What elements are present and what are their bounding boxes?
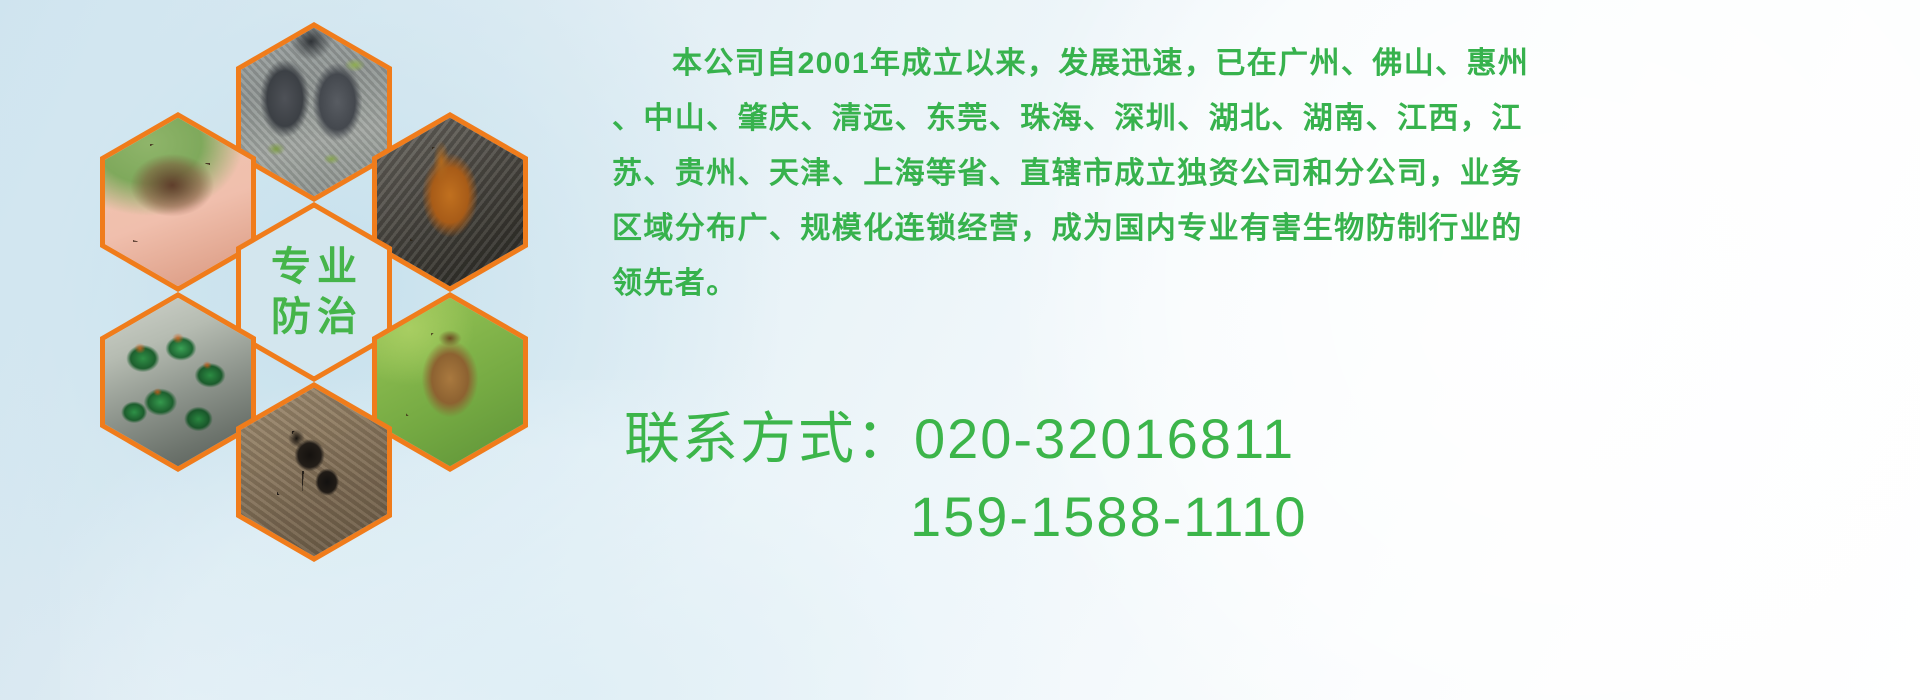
hexagon-photo-cluster: 专业 防治: [90, 8, 590, 568]
mosquito-photo: [105, 118, 251, 286]
hex-cell-mosquito[interactable]: [100, 112, 256, 292]
hex-label-line-1: 专业: [265, 246, 363, 288]
pest-control-banner: 专业 防治 本公司自2001年成立以来，发展迅速，已在广州、佛山、惠州 、中山、…: [0, 0, 1920, 700]
ant-photo: [241, 388, 387, 556]
hex-label-text: 专业 防治: [241, 208, 387, 376]
contact-line-secondary[interactable]: 159-1588-1110: [624, 478, 1884, 556]
rats-photo: [241, 28, 387, 196]
contact-line-primary[interactable]: 联系方式：020-32016811: [624, 400, 1884, 478]
hex-cell-ant[interactable]: [236, 382, 392, 562]
hex-cell-rats[interactable]: [236, 22, 392, 202]
company-description: 本公司自2001年成立以来，发展迅速，已在广州、佛山、惠州 、中山、肇庆、清远、…: [612, 36, 1862, 311]
hex-label-line-2: 防治: [265, 296, 363, 338]
hex-cell-cockroach[interactable]: [372, 112, 528, 292]
about-line-5: 领先者。: [612, 256, 1862, 311]
about-line-2: 、中山、肇庆、清远、东莞、珠海、深圳、湖北、湖南、江西，江: [612, 91, 1862, 146]
about-line-4: 区域分布广、规模化连锁经营，成为国内专业有害生物防制行业的: [612, 201, 1862, 256]
flies-photo: [105, 298, 251, 466]
hex-cell-stink-bug[interactable]: [372, 292, 528, 472]
cockroach-photo: [377, 118, 523, 286]
contact-block: 联系方式：020-32016811 159-1588-1110: [624, 400, 1884, 556]
about-line-3: 苏、贵州、天津、上海等省、直辖市成立独资公司和分公司，业务: [612, 146, 1862, 201]
about-line-1: 本公司自2001年成立以来，发展迅速，已在广州、佛山、惠州: [612, 36, 1862, 91]
hex-cell-flies[interactable]: [100, 292, 256, 472]
stink-bug-photo: [377, 298, 523, 466]
hex-cell-label[interactable]: 专业 防治: [236, 202, 392, 382]
